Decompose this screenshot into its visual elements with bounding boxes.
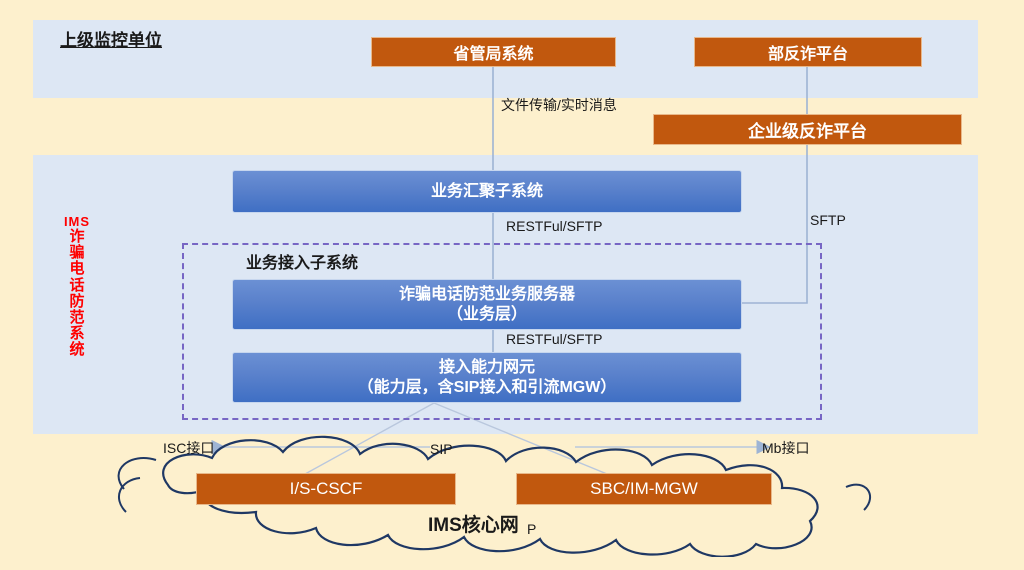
- connector-label-mb-interface: Mb接口: [762, 438, 809, 458]
- node-access-capability-ne-line2: （能力层，含SIP接入和引流MGW）: [358, 378, 617, 398]
- cloud-inner-detail: [119, 458, 156, 489]
- system-label-char-6: 系: [62, 326, 92, 342]
- node-antifraud-business-server-line1: 诈骗电话防范业务服务器: [399, 285, 575, 305]
- group-title-business-access-subsystem: 业务接入子系统: [246, 249, 358, 273]
- system-label-char-3: 话: [62, 278, 92, 294]
- connector-label-restful-sftp-lower: RESTFul/SFTP: [506, 331, 602, 347]
- node-sbc-im-mgw[interactable]: SBC/IM-MGW: [516, 473, 772, 505]
- connector-label-rtp: RT P: [527, 441, 545, 570]
- page-title-supervisor: 上级监控单位: [60, 26, 162, 51]
- cloud-inner-detail-2: [119, 478, 140, 512]
- cloud-inner-detail-3: [846, 485, 870, 510]
- node-aggregation-subsystem[interactable]: 业务汇聚子系统: [232, 170, 742, 213]
- system-label-char-2: 电: [62, 261, 92, 277]
- system-label-char-4: 防: [62, 294, 92, 310]
- system-label-char-0: 诈: [62, 229, 92, 245]
- connector-label-isc-interface: ISC接口: [163, 438, 214, 458]
- system-vertical-label: IMS 诈 骗 电 话 防 范 系 统: [62, 215, 92, 359]
- node-antifraud-business-server-line2: （业务层）: [447, 305, 527, 325]
- node-ministry-antifraud-platform[interactable]: 部反诈平台: [694, 37, 922, 67]
- connector-label-rtp-line2: P: [527, 521, 545, 537]
- node-antifraud-business-server[interactable]: 诈骗电话防范业务服务器 （业务层）: [232, 279, 742, 330]
- connector-label-sftp: SFTP: [810, 212, 846, 228]
- node-is-cscf[interactable]: I/S-CSCF: [196, 473, 456, 505]
- node-access-capability-ne[interactable]: 接入能力网元 （能力层，含SIP接入和引流MGW）: [232, 352, 742, 403]
- connector-label-file-transfer: 文件传输/实时消息: [501, 95, 617, 115]
- node-access-capability-ne-line1: 接入能力网元: [439, 358, 535, 378]
- node-enterprise-antifraud-platform[interactable]: 企业级反诈平台: [653, 114, 962, 145]
- diagram-canvas: 上级监控单位 省管局系统 部反诈平台 企业级反诈平台 文件传输/实时消息 IMS…: [0, 0, 1024, 557]
- system-label-char-1: 骗: [62, 245, 92, 261]
- system-label-char-7: 统: [62, 342, 92, 358]
- node-provincial-system[interactable]: 省管局系统: [371, 37, 616, 67]
- system-label-ascii: IMS: [62, 215, 92, 229]
- system-label-char-5: 范: [62, 310, 92, 326]
- connector-label-sip: SIP: [430, 441, 453, 457]
- cloud-label-ims-core-network: IMS核心网: [428, 510, 519, 537]
- connector-label-restful-sftp-upper: RESTFul/SFTP: [506, 218, 602, 234]
